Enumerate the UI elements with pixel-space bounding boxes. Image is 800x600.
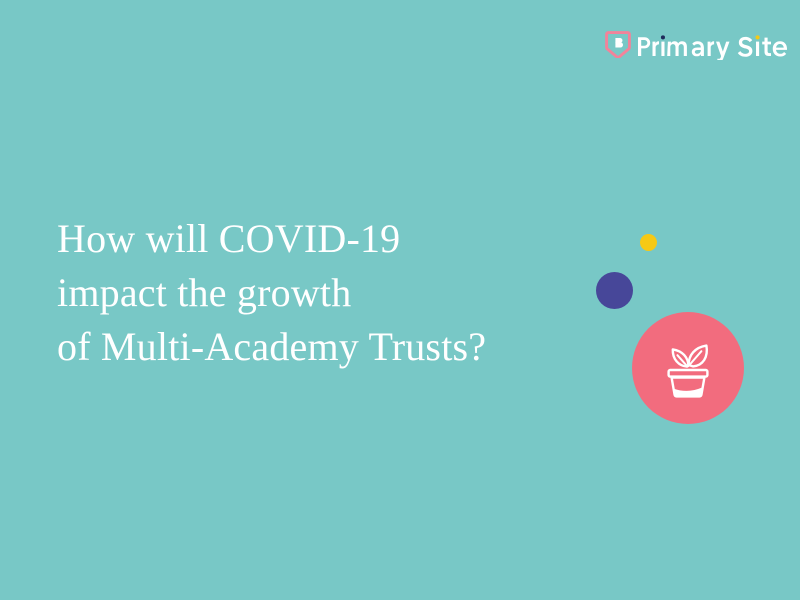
- brand-wordmark: [636, 28, 800, 60]
- headline-line-2: impact the growth: [57, 266, 597, 320]
- slide-headline: How will COVID-19 impact the growth of M…: [57, 212, 597, 374]
- purple-dot: [596, 272, 633, 309]
- primary-i-dot: [661, 35, 665, 39]
- slide-canvas: How will COVID-19 impact the growth of M…: [0, 0, 800, 600]
- site-i-dot: [756, 35, 760, 39]
- brand-logo[interactable]: [604, 24, 800, 64]
- plant-badge: [632, 312, 744, 424]
- potted-plant-icon: [657, 336, 719, 400]
- yellow-dot: [640, 234, 657, 251]
- primarysite-bracket-mark-icon: [604, 30, 632, 58]
- headline-line-3: of Multi-Academy Trusts?: [57, 320, 597, 374]
- headline-line-1: How will COVID-19: [57, 212, 597, 266]
